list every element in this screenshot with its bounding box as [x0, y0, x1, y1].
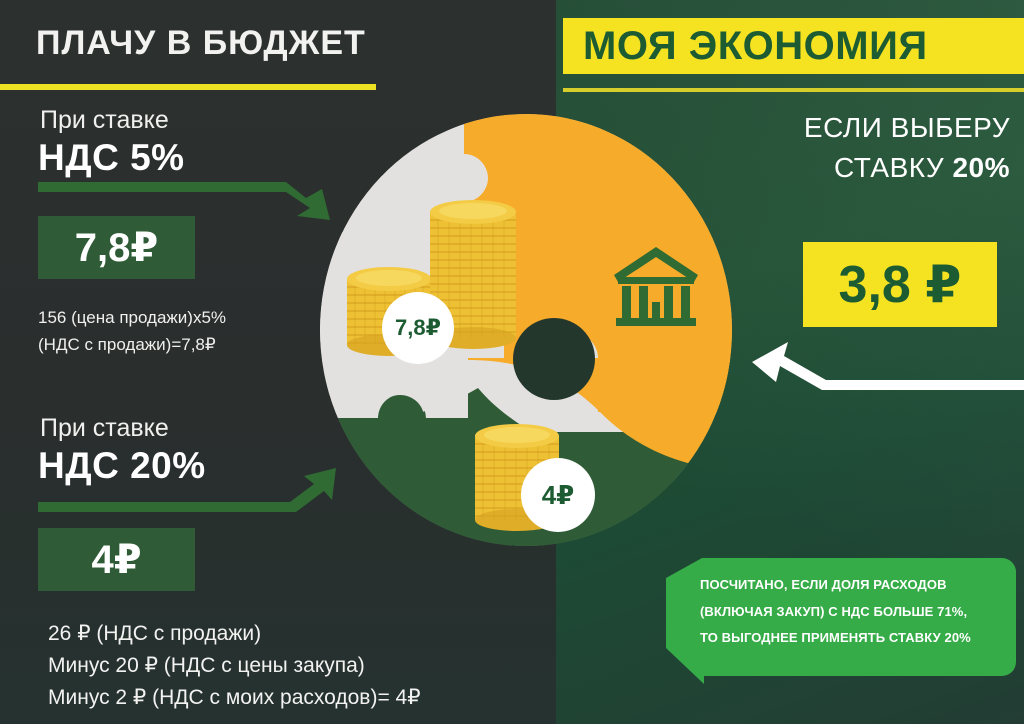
callout-text: ПОСЧИТАНО, ЕСЛИ ДОЛЯ РАСХОДОВ (ВКЛЮЧАЯ З… [700, 572, 1010, 652]
rate5-calc: 156 (цена продажи)x5% (НДС с продажи)=7,… [38, 305, 226, 359]
rate20-calc-line2: Минус 20 ₽ (НДС с цены закупа) [48, 650, 421, 682]
bank-building-icon [610, 244, 702, 328]
callout-line3: ТО ВЫГОДНЕЕ ПРИМЕНЯТЬ СТАВКУ 20% [700, 625, 1010, 652]
rate20-calc: 26 ₽ (НДС с продажи) Минус 20 ₽ (НДС с ц… [48, 618, 421, 714]
arrow-savings-white [744, 340, 1024, 396]
rate20-value: 4₽ [91, 537, 141, 583]
badge-value-top: 7,8₽ [382, 292, 454, 364]
rate20-value-box: 4₽ [38, 528, 195, 591]
right-banner-underline [563, 88, 1024, 92]
savings-value: 3,8 ₽ [839, 255, 962, 315]
right-subtitle-line2-prefix: СТАВКУ [834, 152, 953, 183]
left-title-underline [0, 84, 376, 90]
rate5-label-small: При ставке [40, 106, 169, 135]
right-banner-label: МОЯ ЭКОНОМИЯ [563, 24, 928, 69]
infographic-canvas: ПЛАЧУ В БЮДЖЕТ МОЯ ЭКОНОМИЯ ЕСЛИ ВЫБЕРУ … [0, 0, 1024, 724]
badge-value-bottom: 4₽ [521, 458, 595, 532]
rate5-label-big: НДС 5% [38, 137, 185, 179]
rate5-calc-line2: (НДС с продажи)=7,8₽ [38, 332, 226, 359]
rate20-calc-line3: Минус 2 ₽ (НДС с моих расходов)= 4₽ [48, 682, 421, 714]
callout-line1: ПОСЧИТАНО, ЕСЛИ ДОЛЯ РАСХОДОВ [700, 572, 1010, 599]
arrow-rate20 [38, 462, 348, 518]
right-banner: МОЯ ЭКОНОМИЯ [563, 18, 1024, 74]
left-panel-title: ПЛАЧУ В БЮДЖЕТ [36, 24, 366, 63]
rate5-calc-line1: 156 (цена продажи)x5% [38, 305, 226, 332]
rate5-value: 7,8₽ [75, 225, 158, 271]
rate5-value-box: 7,8₽ [38, 216, 195, 279]
callout-line2: (ВКЛЮЧАЯ ЗАКУП) С НДС БОЛЬШЕ 71%, [700, 599, 1010, 626]
right-subtitle-rate: 20% [952, 152, 1010, 183]
savings-value-box: 3,8 ₽ [803, 242, 997, 327]
rate20-label-small: При ставке [40, 414, 169, 443]
circle-center-knob [513, 318, 595, 400]
rate20-calc-line1: 26 ₽ (НДС с продажи) [48, 618, 421, 650]
